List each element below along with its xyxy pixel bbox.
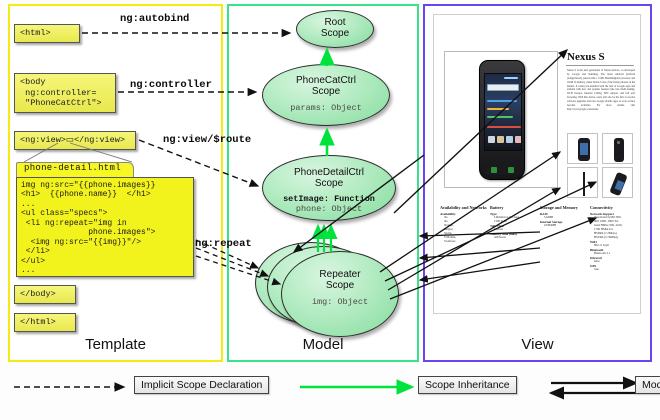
label-ng-repeat: ng:repeat bbox=[195, 238, 252, 250]
note-code: img ng:src="{{phone.images}} <h1> {{phon… bbox=[16, 177, 194, 277]
template-tag-body: <body ng:controller= "PhoneCatCtrl"> bbox=[14, 73, 116, 113]
label-ng-autobind: ng:autobind bbox=[120, 13, 189, 25]
scope-repeater-prop-img: img: Object bbox=[282, 297, 398, 307]
spec-value: Vodafone bbox=[440, 240, 488, 244]
spec-column-battery: Battery Type Lithium Ion (Li-Ion) 1500 m… bbox=[490, 205, 538, 285]
phone-detail-note: phone-detail.html img ng:src="{{phone.im… bbox=[16, 162, 194, 278]
spec-value: true bbox=[590, 268, 638, 272]
scope-repeater-title: Repeater Scope bbox=[282, 252, 398, 291]
scope-phonecatctrl-title: PhoneCatCtrl Scope bbox=[263, 65, 389, 97]
legend-glyphs bbox=[0, 366, 660, 420]
spec-table: Availability and Networks Availability 3… bbox=[440, 205, 638, 285]
thumbnail-back[interactable] bbox=[602, 133, 633, 164]
scope-phonecatctrl: PhoneCatCtrl Scope params: Object bbox=[262, 64, 390, 126]
scope-phonecatctrl-prop-params: params: Object bbox=[263, 103, 389, 113]
legend-label-databinding: Model / View Data-binding bbox=[635, 376, 660, 394]
template-tag-body-close: </body> bbox=[14, 285, 76, 304]
title-rule bbox=[566, 65, 634, 66]
scope-repeater: Repeater Scope img: Object bbox=[281, 251, 399, 337]
product-title: Nexus S bbox=[567, 51, 605, 63]
spec-column-connectivity: Connectivity Network Support Quad-band G… bbox=[590, 205, 638, 285]
label-ng-view-route: ng:view/$route bbox=[163, 134, 251, 146]
spec-value: 16384MB bbox=[540, 224, 588, 228]
legend-label-inheritance: Scope Inheritance bbox=[418, 376, 517, 394]
thumbnail-angled[interactable] bbox=[602, 167, 633, 198]
template-tag-html: <html> bbox=[14, 24, 80, 43]
scope-phonedetailctrl-title: PhoneDetailCtrl Scope bbox=[263, 156, 395, 189]
scope-phonedetailctrl-prop-setimage: setImage: Function bbox=[263, 194, 395, 204]
spec-heading: Storage and Memory bbox=[540, 205, 588, 210]
template-tag-html-close: </html> bbox=[14, 313, 76, 332]
note-title: phone-detail.html bbox=[24, 163, 121, 173]
template-tag-ngview: <ng:view>▭</ng:view> bbox=[14, 131, 136, 150]
thumbnail-side-edge[interactable] bbox=[567, 167, 598, 198]
scope-phonedetailctrl: PhoneDetailCtrl Scope setImage: Function… bbox=[262, 155, 396, 221]
spec-value: 428 hours bbox=[490, 236, 538, 240]
view-browser-content: Nexus S Nexus S is the next generation o… bbox=[433, 14, 641, 314]
phone-home-keys bbox=[486, 165, 520, 175]
phone-screen bbox=[484, 73, 522, 151]
label-ng-controller: ng:controller bbox=[130, 79, 212, 91]
legend: Implicit Scope Declaration Scope Inherit… bbox=[0, 366, 660, 420]
thumbnail-front-screen[interactable] bbox=[567, 133, 598, 164]
spec-column-storage: Storage and Memory RAM 512MB Internal St… bbox=[540, 205, 588, 285]
legend-label-implicit: Implicit Scope Declaration bbox=[134, 376, 269, 394]
scope-phonedetailctrl-prop-phone: phone: Object bbox=[263, 204, 395, 214]
spec-heading: Availability and Networks bbox=[440, 205, 488, 210]
scope-root-title: Root Scope bbox=[297, 11, 373, 39]
product-description: Nexus S is the next generation of Nexus … bbox=[567, 69, 635, 125]
spec-heading: Battery bbox=[490, 205, 538, 210]
scope-root: Root Scope bbox=[296, 10, 374, 48]
spec-heading: Connectivity bbox=[590, 205, 638, 210]
repeater-scope-stack: Repeater Scope img: Object bbox=[255, 238, 399, 338]
diagram-root: <html> <body ng:controller= "PhoneCatCtr… bbox=[0, 0, 660, 420]
phone-device-image bbox=[479, 60, 525, 180]
spec-column-availability: Availability and Networks Availability 3… bbox=[440, 205, 488, 285]
phone-hero-frame bbox=[444, 51, 558, 188]
